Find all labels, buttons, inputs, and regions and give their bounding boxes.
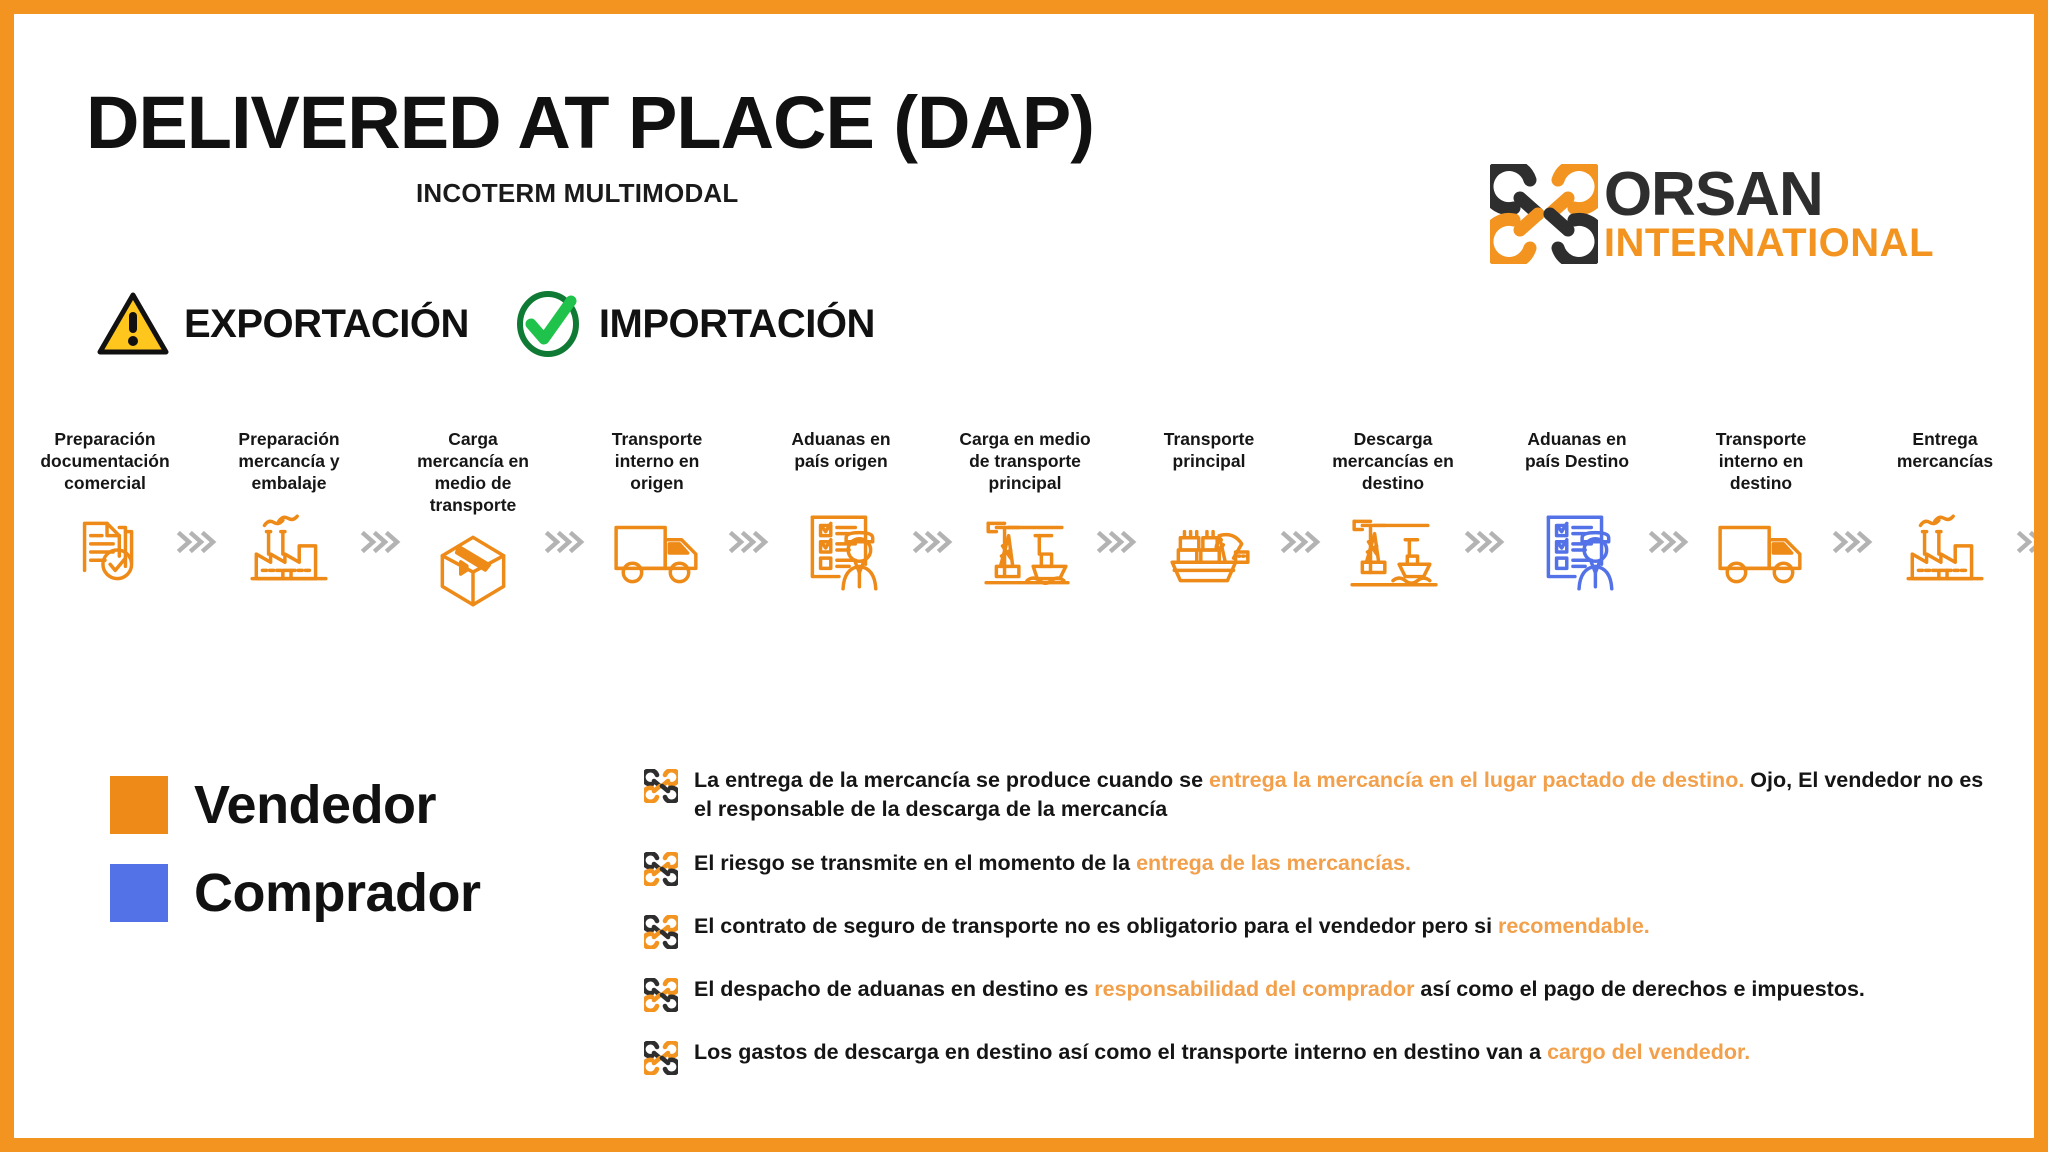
note-highlight: entrega de las mercancías. <box>1136 851 1411 875</box>
process-step[interactable]: Transporte interno en destino <box>1692 429 1830 597</box>
process-step-label: Carga en medio de transporte principal <box>956 429 1094 499</box>
page-subtitle: INCOTERM MULTIMODAL <box>416 178 1094 209</box>
note-plain: El contrato de seguro de transporte no e… <box>694 914 1498 938</box>
mode-export-label: EXPORTACIÓN <box>184 302 469 347</box>
warning-triangle-icon <box>96 290 170 358</box>
note-text: El despacho de aduanas en destino es res… <box>694 975 1865 1004</box>
customs-officer-icon <box>1525 505 1629 597</box>
orsan-chain-bullet-icon <box>644 915 678 949</box>
triple-chevron-right-icon <box>726 529 772 555</box>
logo-tagline: INTERNATIONAL <box>1604 225 1934 262</box>
logo-name: ORSAN <box>1604 166 1934 224</box>
note-text: Los gastos de descarga en destino así co… <box>694 1038 1750 1067</box>
process-step-label: Preparación documentación comercial <box>36 429 174 499</box>
header: DELIVERED AT PLACE (DAP) INCOTERM MULTIM… <box>14 14 2034 314</box>
triple-chevron-right-icon <box>174 529 220 555</box>
legend-label: Vendedor <box>194 774 436 836</box>
note-text: El contrato de seguro de transporte no e… <box>694 912 1650 941</box>
note-plain: El riesgo se transmite en el momento de … <box>694 851 1136 875</box>
process-step-label: Transporte principal <box>1140 429 1278 499</box>
mode-import: IMPORTACIÓN <box>511 290 875 358</box>
triple-chevron-right-icon <box>542 529 588 555</box>
container-ship-icon <box>1157 505 1261 597</box>
orsan-chain-bullet-icon <box>644 1041 678 1075</box>
note-item: El contrato de seguro de transporte no e… <box>644 912 1994 949</box>
legend: VendedorComprador <box>110 774 481 924</box>
note-highlight: cargo del vendedor. <box>1547 1040 1750 1064</box>
note-plain: El despacho de aduanas en destino es <box>694 977 1094 1001</box>
process-step[interactable]: Descarga mercancías en destino <box>1324 429 1462 597</box>
legend-label: Comprador <box>194 862 481 924</box>
title-block: DELIVERED AT PLACE (DAP) INCOTERM MULTIM… <box>86 86 1094 209</box>
process-step-label: Aduanas en país Destino <box>1508 429 1646 499</box>
orsan-chain-bullet-icon <box>644 978 678 1012</box>
mode-row: EXPORTACIÓN IMPORTACIÓN <box>96 290 875 358</box>
process-step-label: Descarga mercancías en destino <box>1324 429 1462 499</box>
brand-logo: ORSAN INTERNATIONAL <box>1490 164 1934 264</box>
crane-ship-loading-icon <box>973 505 1077 597</box>
check-circle-icon <box>511 290 585 358</box>
notes-list: La entrega de la mercancía se produce cu… <box>644 766 1994 1075</box>
triple-chevron-right-icon <box>2014 529 2048 555</box>
mode-import-label: IMPORTACIÓN <box>599 302 875 347</box>
triple-chevron-right-icon <box>1278 529 1324 555</box>
process-step-label: Carga mercancía en medio de transporte <box>404 429 542 517</box>
process-step[interactable]: Transporte interno en origen <box>588 429 726 597</box>
note-plain: así como el pago de derechos e impuestos… <box>1414 977 1864 1001</box>
legend-item: Vendedor <box>110 774 481 836</box>
note-highlight: recomendable. <box>1498 914 1650 938</box>
customs-officer-icon <box>789 505 893 597</box>
orsan-chain-bullet-icon <box>644 769 678 803</box>
note-text: La entrega de la mercancía se produce cu… <box>694 766 1994 823</box>
legend-item: Comprador <box>110 862 481 924</box>
note-item: La entrega de la mercancía se produce cu… <box>644 766 1994 823</box>
note-item: Los gastos de descarga en destino así co… <box>644 1038 1994 1075</box>
process-step-label: Entrega mercancías <box>1876 429 2014 499</box>
truck-icon <box>605 505 709 597</box>
triple-chevron-right-icon <box>1094 529 1140 555</box>
factory-icon <box>1893 505 1997 597</box>
logo-wordmark: ORSAN INTERNATIONAL <box>1604 166 1934 263</box>
orsan-chain-bullet-icon <box>644 852 678 886</box>
infographic-page: DELIVERED AT PLACE (DAP) INCOTERM MULTIM… <box>0 0 2048 1152</box>
triple-chevron-right-icon <box>910 529 956 555</box>
note-plain: La entrega de la mercancía se produce cu… <box>694 768 1209 792</box>
process-step-label: Transporte interno en destino <box>1692 429 1830 499</box>
legend-color-swatch <box>110 864 168 922</box>
process-step-label: Aduanas en país origen <box>772 429 910 499</box>
note-item: El despacho de aduanas en destino es res… <box>644 975 1994 1012</box>
document-check-icon <box>53 505 157 597</box>
process-chain: Preparación documentación comercialPrepa… <box>36 429 2012 615</box>
triple-chevron-right-icon <box>1462 529 1508 555</box>
process-step-label: Transporte interno en origen <box>588 429 726 499</box>
process-step[interactable]: Preparación documentación comercial <box>36 429 174 597</box>
crane-ship-unloading-icon <box>1341 505 1445 597</box>
triple-chevron-right-icon <box>1830 529 1876 555</box>
factory-icon <box>237 505 341 597</box>
process-step[interactable]: Carga en medio de transporte principal <box>956 429 1094 597</box>
process-step[interactable]: Transporte principal <box>1140 429 1278 597</box>
process-step[interactable]: Preparación mercancía y embalaje <box>220 429 358 597</box>
truck-icon <box>1709 505 1813 597</box>
orsan-chain-logo-icon <box>1490 164 1598 264</box>
process-step[interactable]: Aduanas en país origen <box>772 429 910 597</box>
process-step-label: Preparación mercancía y embalaje <box>220 429 358 499</box>
mode-export: EXPORTACIÓN <box>96 290 469 358</box>
note-highlight: entrega la mercancía en el lugar pactado… <box>1209 768 1744 792</box>
triple-chevron-right-icon <box>358 529 404 555</box>
process-step[interactable]: Carga mercancía en medio de transporte <box>404 429 542 615</box>
process-step[interactable]: Entrega mercancías <box>1876 429 2014 597</box>
page-title: DELIVERED AT PLACE (DAP) <box>86 86 1094 160</box>
triple-chevron-right-icon <box>1646 529 1692 555</box>
note-plain: Los gastos de descarga en destino así co… <box>694 1040 1547 1064</box>
box-icon <box>421 523 525 615</box>
process-step[interactable]: Aduanas en país Destino <box>1508 429 1646 597</box>
note-item: El riesgo se transmite en el momento de … <box>644 849 1994 886</box>
legend-color-swatch <box>110 776 168 834</box>
note-highlight: responsabilidad del comprador <box>1094 977 1414 1001</box>
note-text: El riesgo se transmite en el momento de … <box>694 849 1411 878</box>
